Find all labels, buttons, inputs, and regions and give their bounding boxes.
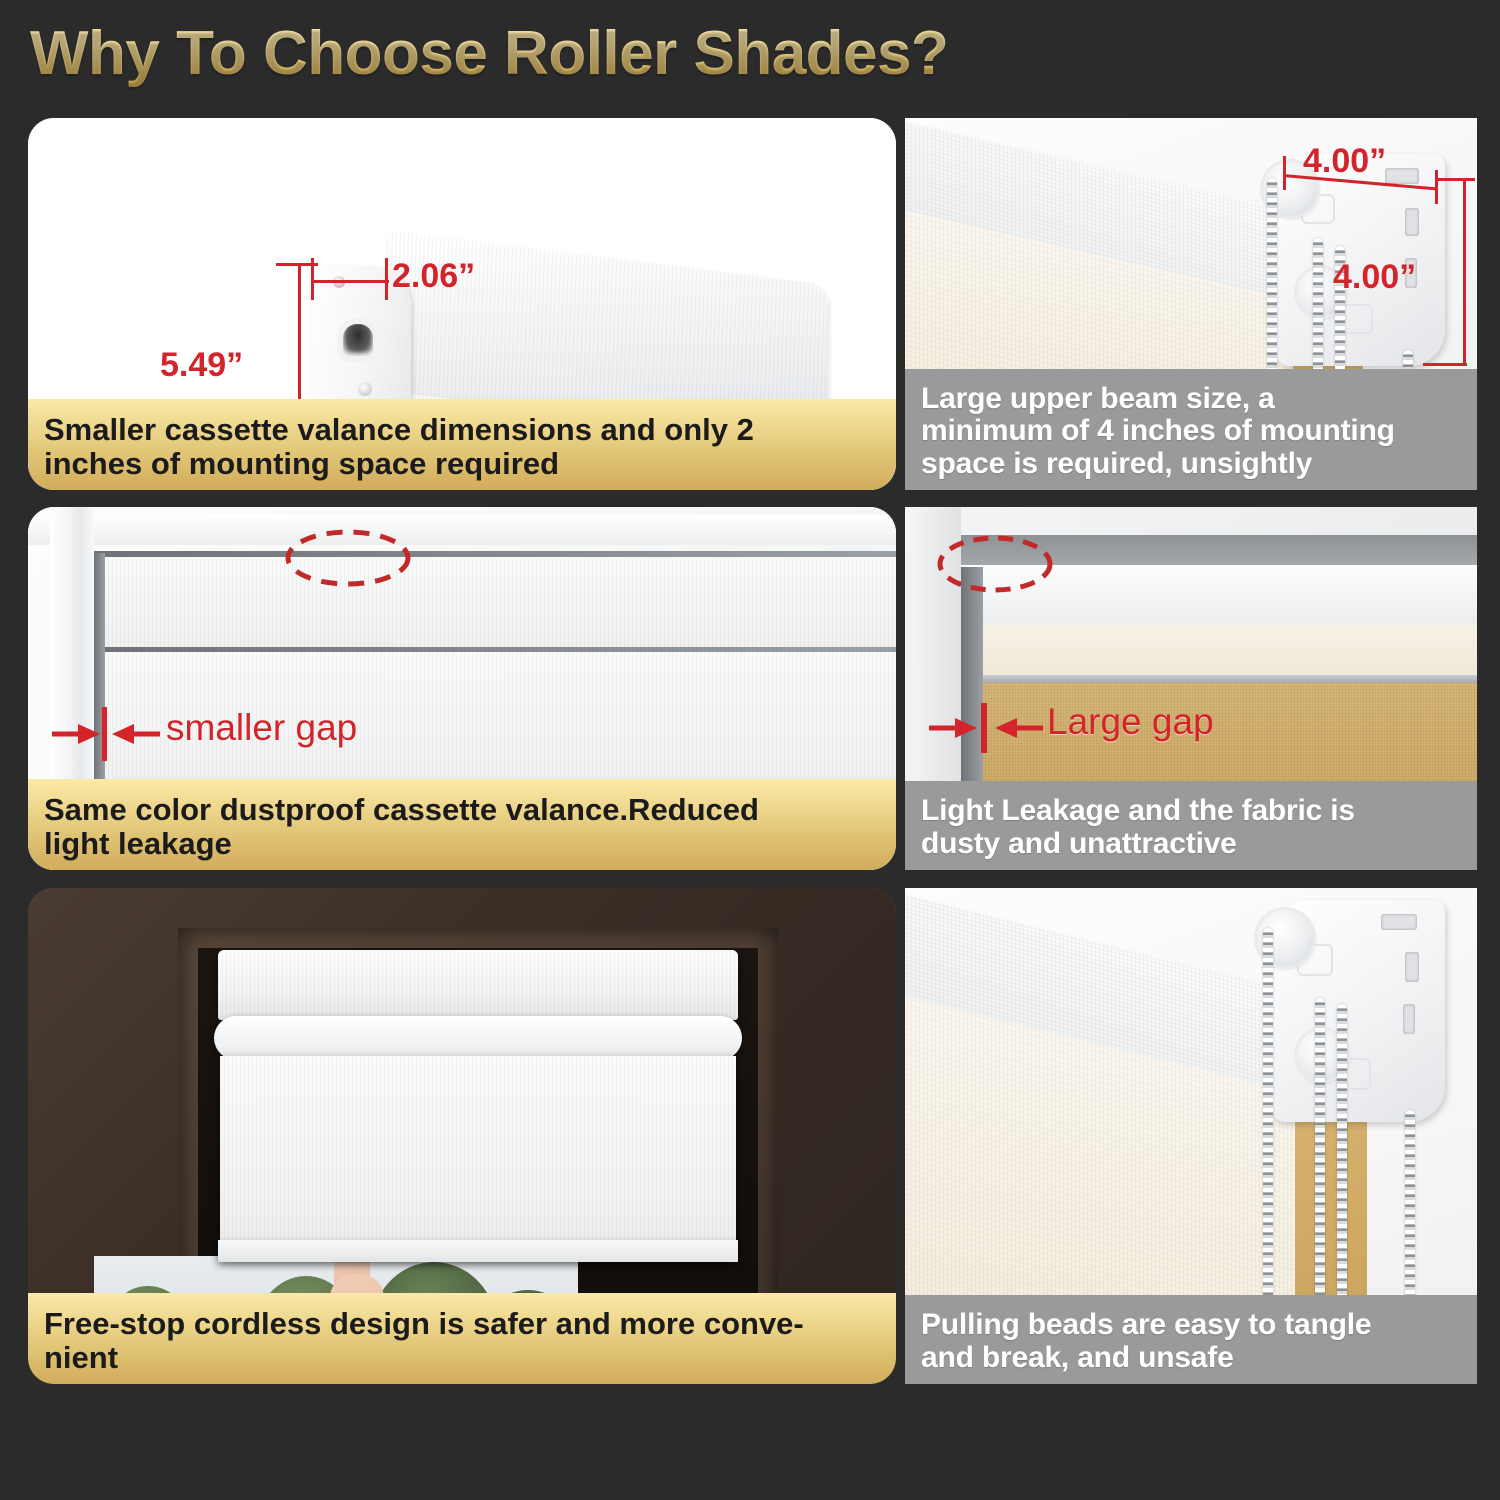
cream-valance-band xyxy=(967,625,1477,677)
gap-arrow-left-icon xyxy=(929,713,977,743)
dashed-ellipse-callout xyxy=(283,527,413,589)
caption-line-1: Light Leakage and the fabric is xyxy=(921,795,1461,827)
gap-arrow-right-icon xyxy=(995,713,1043,743)
bracket-notch-mid xyxy=(1405,208,1419,236)
scene-cassette-valance xyxy=(218,950,738,1020)
caption-pro-cassette-size: Smaller cassette valance dimensions and … xyxy=(28,399,896,490)
cassette-valance-band xyxy=(100,557,896,647)
caption-line-2: light leakage xyxy=(44,827,880,860)
beam-height-line xyxy=(1463,178,1466,366)
caption-line-1: Smaller cassette valance dimensions and … xyxy=(44,413,880,446)
width-dim-tick-right xyxy=(385,258,388,300)
caption-line-2: inches of mounting space required xyxy=(44,447,880,480)
panel-con-light-leakage: Large gap Light Leakage and the fabric i… xyxy=(905,507,1477,870)
beam-width-label: 4.00” xyxy=(1303,142,1386,181)
scene-shade-fabric xyxy=(220,1056,736,1256)
window-frame-header xyxy=(28,515,896,545)
caption-line-2: minimum of 4 inches of mounting xyxy=(921,415,1461,447)
smaller-gap-label: smaller gap xyxy=(166,707,357,749)
valance-bottom-edge xyxy=(967,675,1477,683)
bracket-notch-top xyxy=(1381,914,1417,930)
caption-line-2: nient xyxy=(44,1341,880,1374)
beam-width-tick-left xyxy=(1283,156,1286,190)
height-dim-tick-top xyxy=(276,263,318,266)
end-cap-screw-icon xyxy=(358,382,372,396)
panel-pro-cassette-size: 2.06” 5.49” Smaller cassette valance dim… xyxy=(28,118,896,490)
width-dim-line xyxy=(311,280,389,283)
end-cap-slot-icon xyxy=(343,324,373,356)
bracket-notch-top xyxy=(1385,168,1419,184)
caption-line-2: and break, and unsafe xyxy=(921,1342,1461,1374)
caption-con-light-leakage: Light Leakage and the fabric is dusty an… xyxy=(905,781,1477,870)
page-title: Why To Choose Roller Shades? xyxy=(30,18,948,89)
gap-marker-bar xyxy=(981,703,987,753)
gap-arrow-left-icon xyxy=(52,719,100,749)
beam-height-tick-top xyxy=(1435,178,1475,181)
height-dimension-label: 5.49” xyxy=(160,346,243,385)
width-dimension-label: 2.06” xyxy=(392,257,475,296)
caption-pro-cordless-design: Free-stop cordless design is safer and m… xyxy=(28,1293,896,1384)
panel-pro-dustproof-valance: smaller gap Same color dustproof cassett… xyxy=(28,507,896,870)
large-gap-label: Large gap xyxy=(1047,701,1214,743)
caption-con-beam-size: Large upper beam size, a minimum of 4 in… xyxy=(905,369,1477,490)
panel-con-pulling-beads: Pulling beads are easy to tangle and bre… xyxy=(905,888,1477,1384)
gap-arrow-right-icon xyxy=(112,719,160,749)
scene-bottom-rail xyxy=(218,1240,738,1262)
beam-height-label: 4.00” xyxy=(1333,258,1416,297)
caption-line-3: space is required, unsightly xyxy=(921,448,1461,480)
caption-line-1: Large upper beam size, a xyxy=(921,383,1461,415)
caption-pro-dustproof-valance: Same color dustproof cassette valance.Re… xyxy=(28,779,896,870)
caption-line-2: dusty and unattractive xyxy=(921,828,1461,860)
panel-con-beam-size: 4.00” 4.00” Large upper beam size, a min… xyxy=(905,118,1477,490)
scene-roller-tube xyxy=(214,1016,742,1060)
gap-marker-bar xyxy=(102,707,107,761)
dashed-ellipse-callout xyxy=(935,533,1055,595)
bracket-notch-low xyxy=(1403,1004,1415,1034)
caption-con-pulling-beads: Pulling beads are easy to tangle and bre… xyxy=(905,1295,1477,1384)
panel-pro-cordless-design: Free-stop cordless design is safer and m… xyxy=(28,888,896,1384)
beam-height-tick-bottom xyxy=(1423,363,1467,366)
caption-line-1: Pulling beads are easy to tangle xyxy=(921,1309,1461,1341)
bracket-notch-mid xyxy=(1405,952,1419,982)
caption-line-1: Same color dustproof cassette valance.Re… xyxy=(44,793,880,826)
caption-line-1: Free-stop cordless design is safer and m… xyxy=(44,1307,880,1340)
